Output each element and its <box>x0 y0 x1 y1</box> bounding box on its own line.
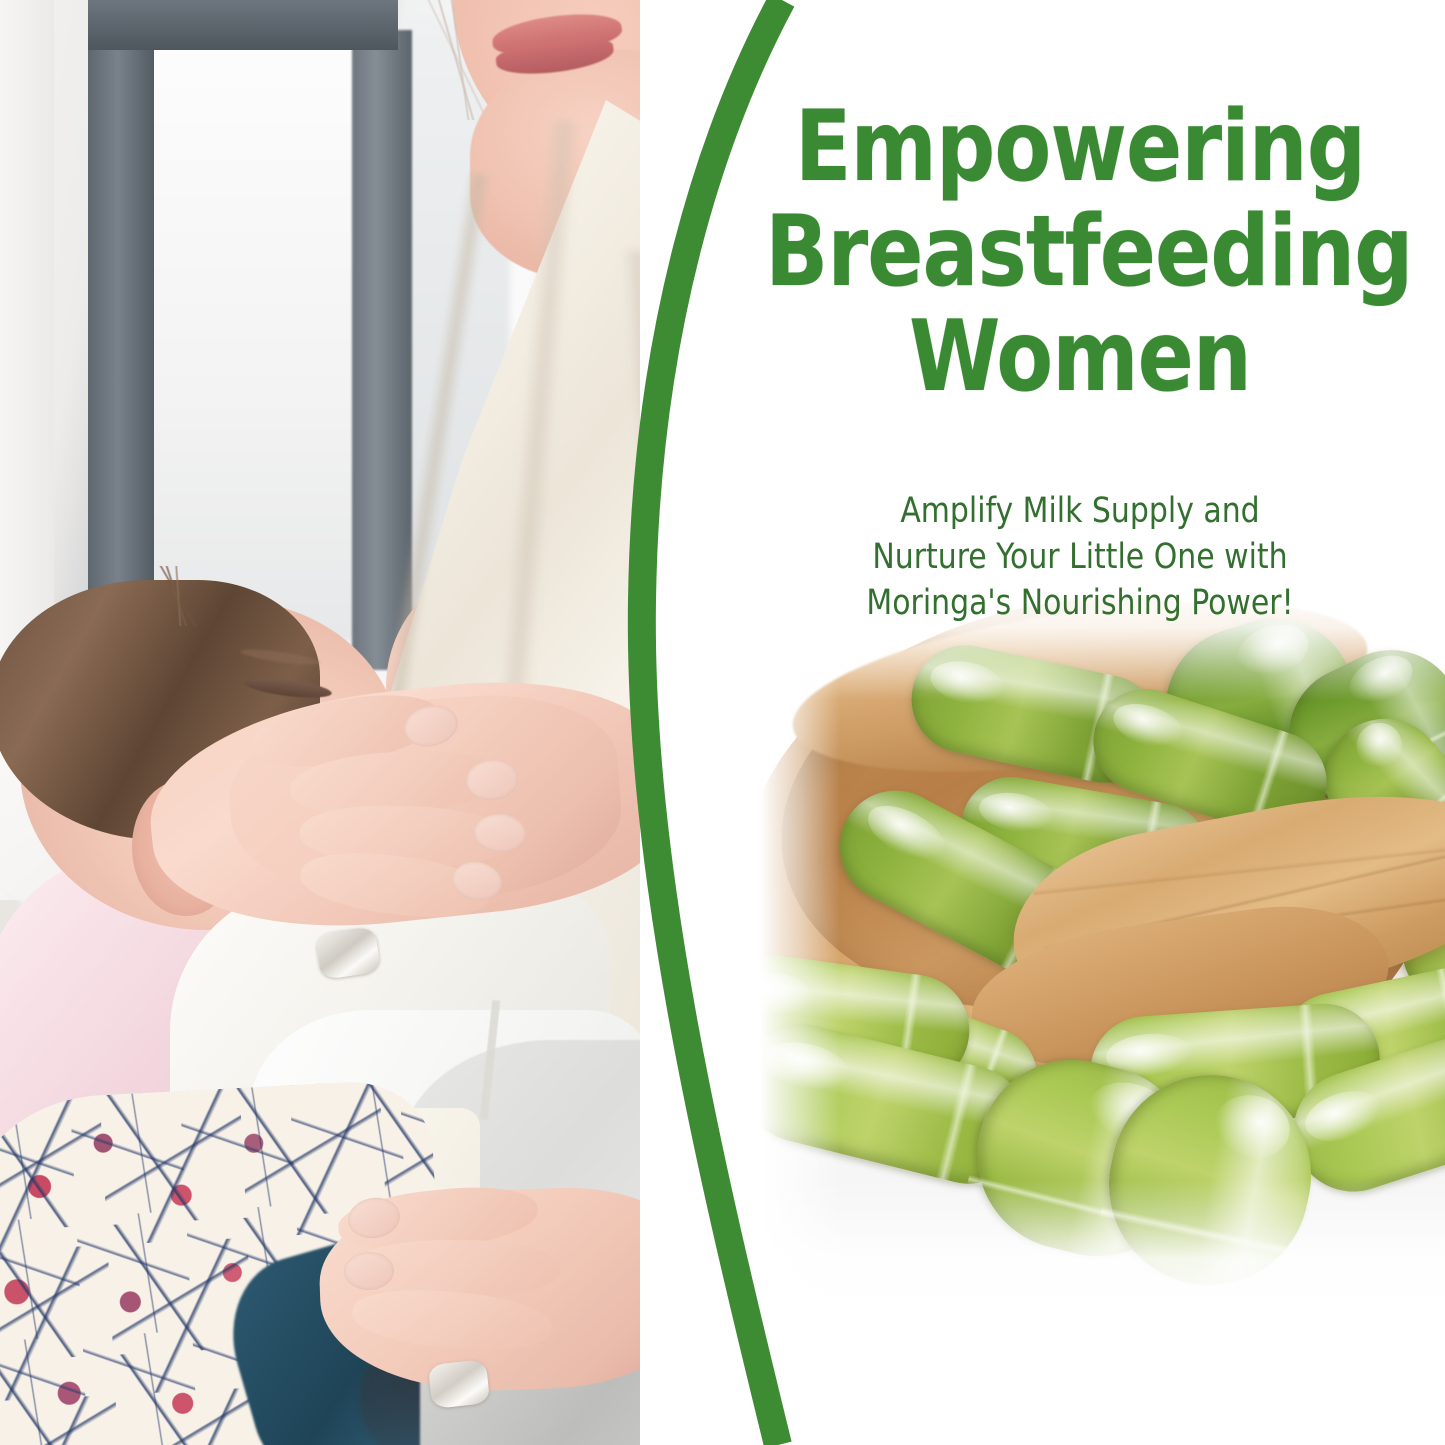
page-subtitle: Amplify Milk Supply and Nurture Your Lit… <box>762 488 1399 627</box>
subtitle-line-3: Moringa's Nourishing Power! <box>762 580 1399 626</box>
wedding-ring-lower-hand <box>428 1359 490 1409</box>
subtitle-line-2: Nurture Your Little One with <box>762 534 1399 580</box>
headline-line-2: Breastfeeding <box>765 200 1395 305</box>
product-banner: Empowering Breastfeeding Women Amplify M… <box>0 0 1445 1445</box>
baby-hair-strands <box>100 566 260 626</box>
headline-line-3: Women <box>765 305 1395 410</box>
moringa-capsules-photo <box>760 580 1445 1320</box>
headline-line-1: Empowering <box>765 95 1395 200</box>
photo-fade-bottom <box>760 1180 1445 1320</box>
window-frame-horizontal <box>88 0 398 50</box>
subtitle-line-1: Amplify Milk Supply and <box>762 488 1399 534</box>
page-title: Empowering Breastfeeding Women <box>765 95 1395 410</box>
window-pane <box>148 40 358 640</box>
